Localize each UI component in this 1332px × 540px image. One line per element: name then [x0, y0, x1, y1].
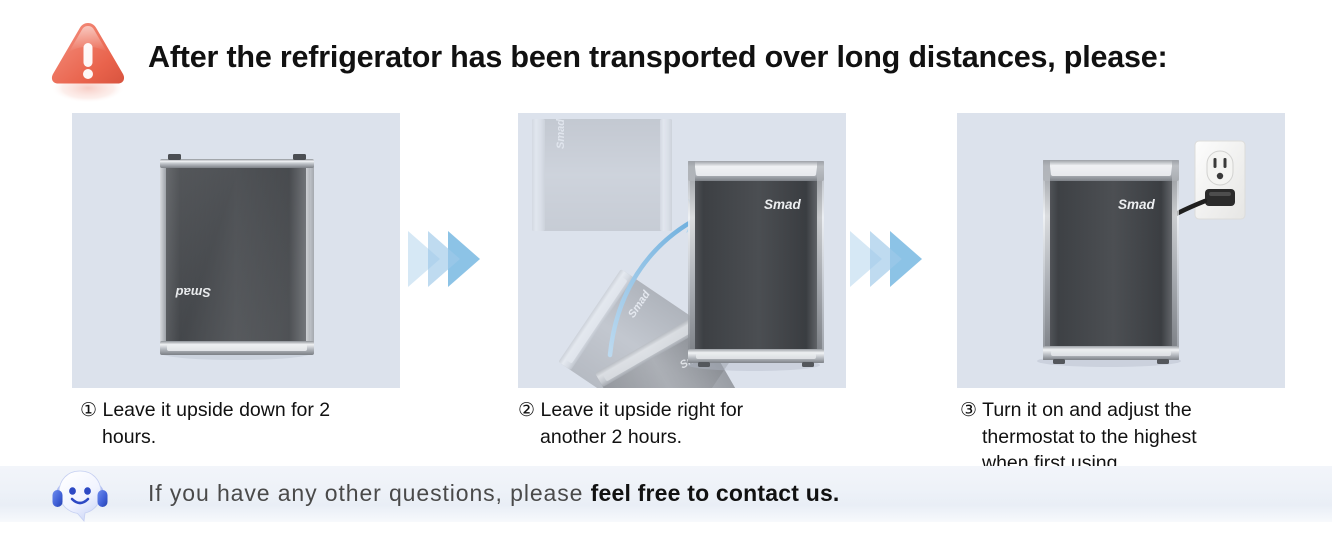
step-number-1: ①	[80, 400, 97, 421]
brand-logo-text: Smad	[1118, 197, 1156, 212]
ghost-fridge-1: Smad	[532, 119, 672, 231]
step-caption-2-line1: Leave it upside right for	[540, 399, 743, 421]
customer-service-avatar-icon	[47, 461, 113, 527]
step-caption-3-line1: Turn it on and adjust the	[982, 399, 1192, 421]
contact-footer-bar: If you have any other questions, please …	[0, 466, 1332, 522]
arrow-group-1	[408, 231, 508, 287]
step-caption-1-line2: hours.	[80, 424, 410, 450]
wall-outlet-icon	[1195, 141, 1245, 219]
illustration-refrigerator-rotating-upright: Smad Smad	[518, 113, 846, 388]
final-fridge: Smad	[688, 161, 824, 371]
brand-logo-text: Smad	[175, 285, 211, 300]
contact-message-normal: If you have any other questions, please	[148, 480, 591, 506]
step-panel-2: Smad Smad	[518, 113, 846, 388]
chevron-right-icon	[428, 231, 460, 287]
step-caption-3: ③ Turn it on and adjust the thermostat t…	[960, 397, 1290, 476]
step-caption-2-line2: another 2 hours.	[518, 424, 848, 450]
svg-text:Smad: Smad	[555, 119, 567, 149]
warning-triangle-icon	[47, 16, 133, 104]
arrow-group-2	[850, 231, 950, 287]
header-banner: After the refrigerator has been transpor…	[0, 0, 1332, 112]
illustration-refrigerator-plugged-in: Smad	[957, 113, 1285, 388]
step-panel-1: Smad	[72, 113, 400, 388]
step-number-3: ③	[960, 400, 977, 421]
steps-row: Smad	[0, 113, 1332, 463]
brand-logo-text: Smad	[764, 197, 802, 212]
chevron-right-icon	[870, 231, 902, 287]
step-caption-2: ② Leave it upside right for another 2 ho…	[518, 397, 848, 450]
contact-message-bold: feel free to contact us.	[591, 480, 840, 506]
step-panel-3: Smad	[957, 113, 1285, 388]
contact-message: If you have any other questions, please …	[148, 480, 840, 507]
step-caption-1-line1: Leave it upside down for 2	[102, 399, 330, 421]
page-title: After the refrigerator has been transpor…	[148, 40, 1168, 75]
step-caption-3-line2: thermostat to the highest	[960, 424, 1290, 450]
illustration-refrigerator-upside-down: Smad	[72, 113, 400, 388]
step-caption-1: ① Leave it upside down for 2 hours.	[80, 397, 410, 450]
step-number-2: ②	[518, 400, 535, 421]
